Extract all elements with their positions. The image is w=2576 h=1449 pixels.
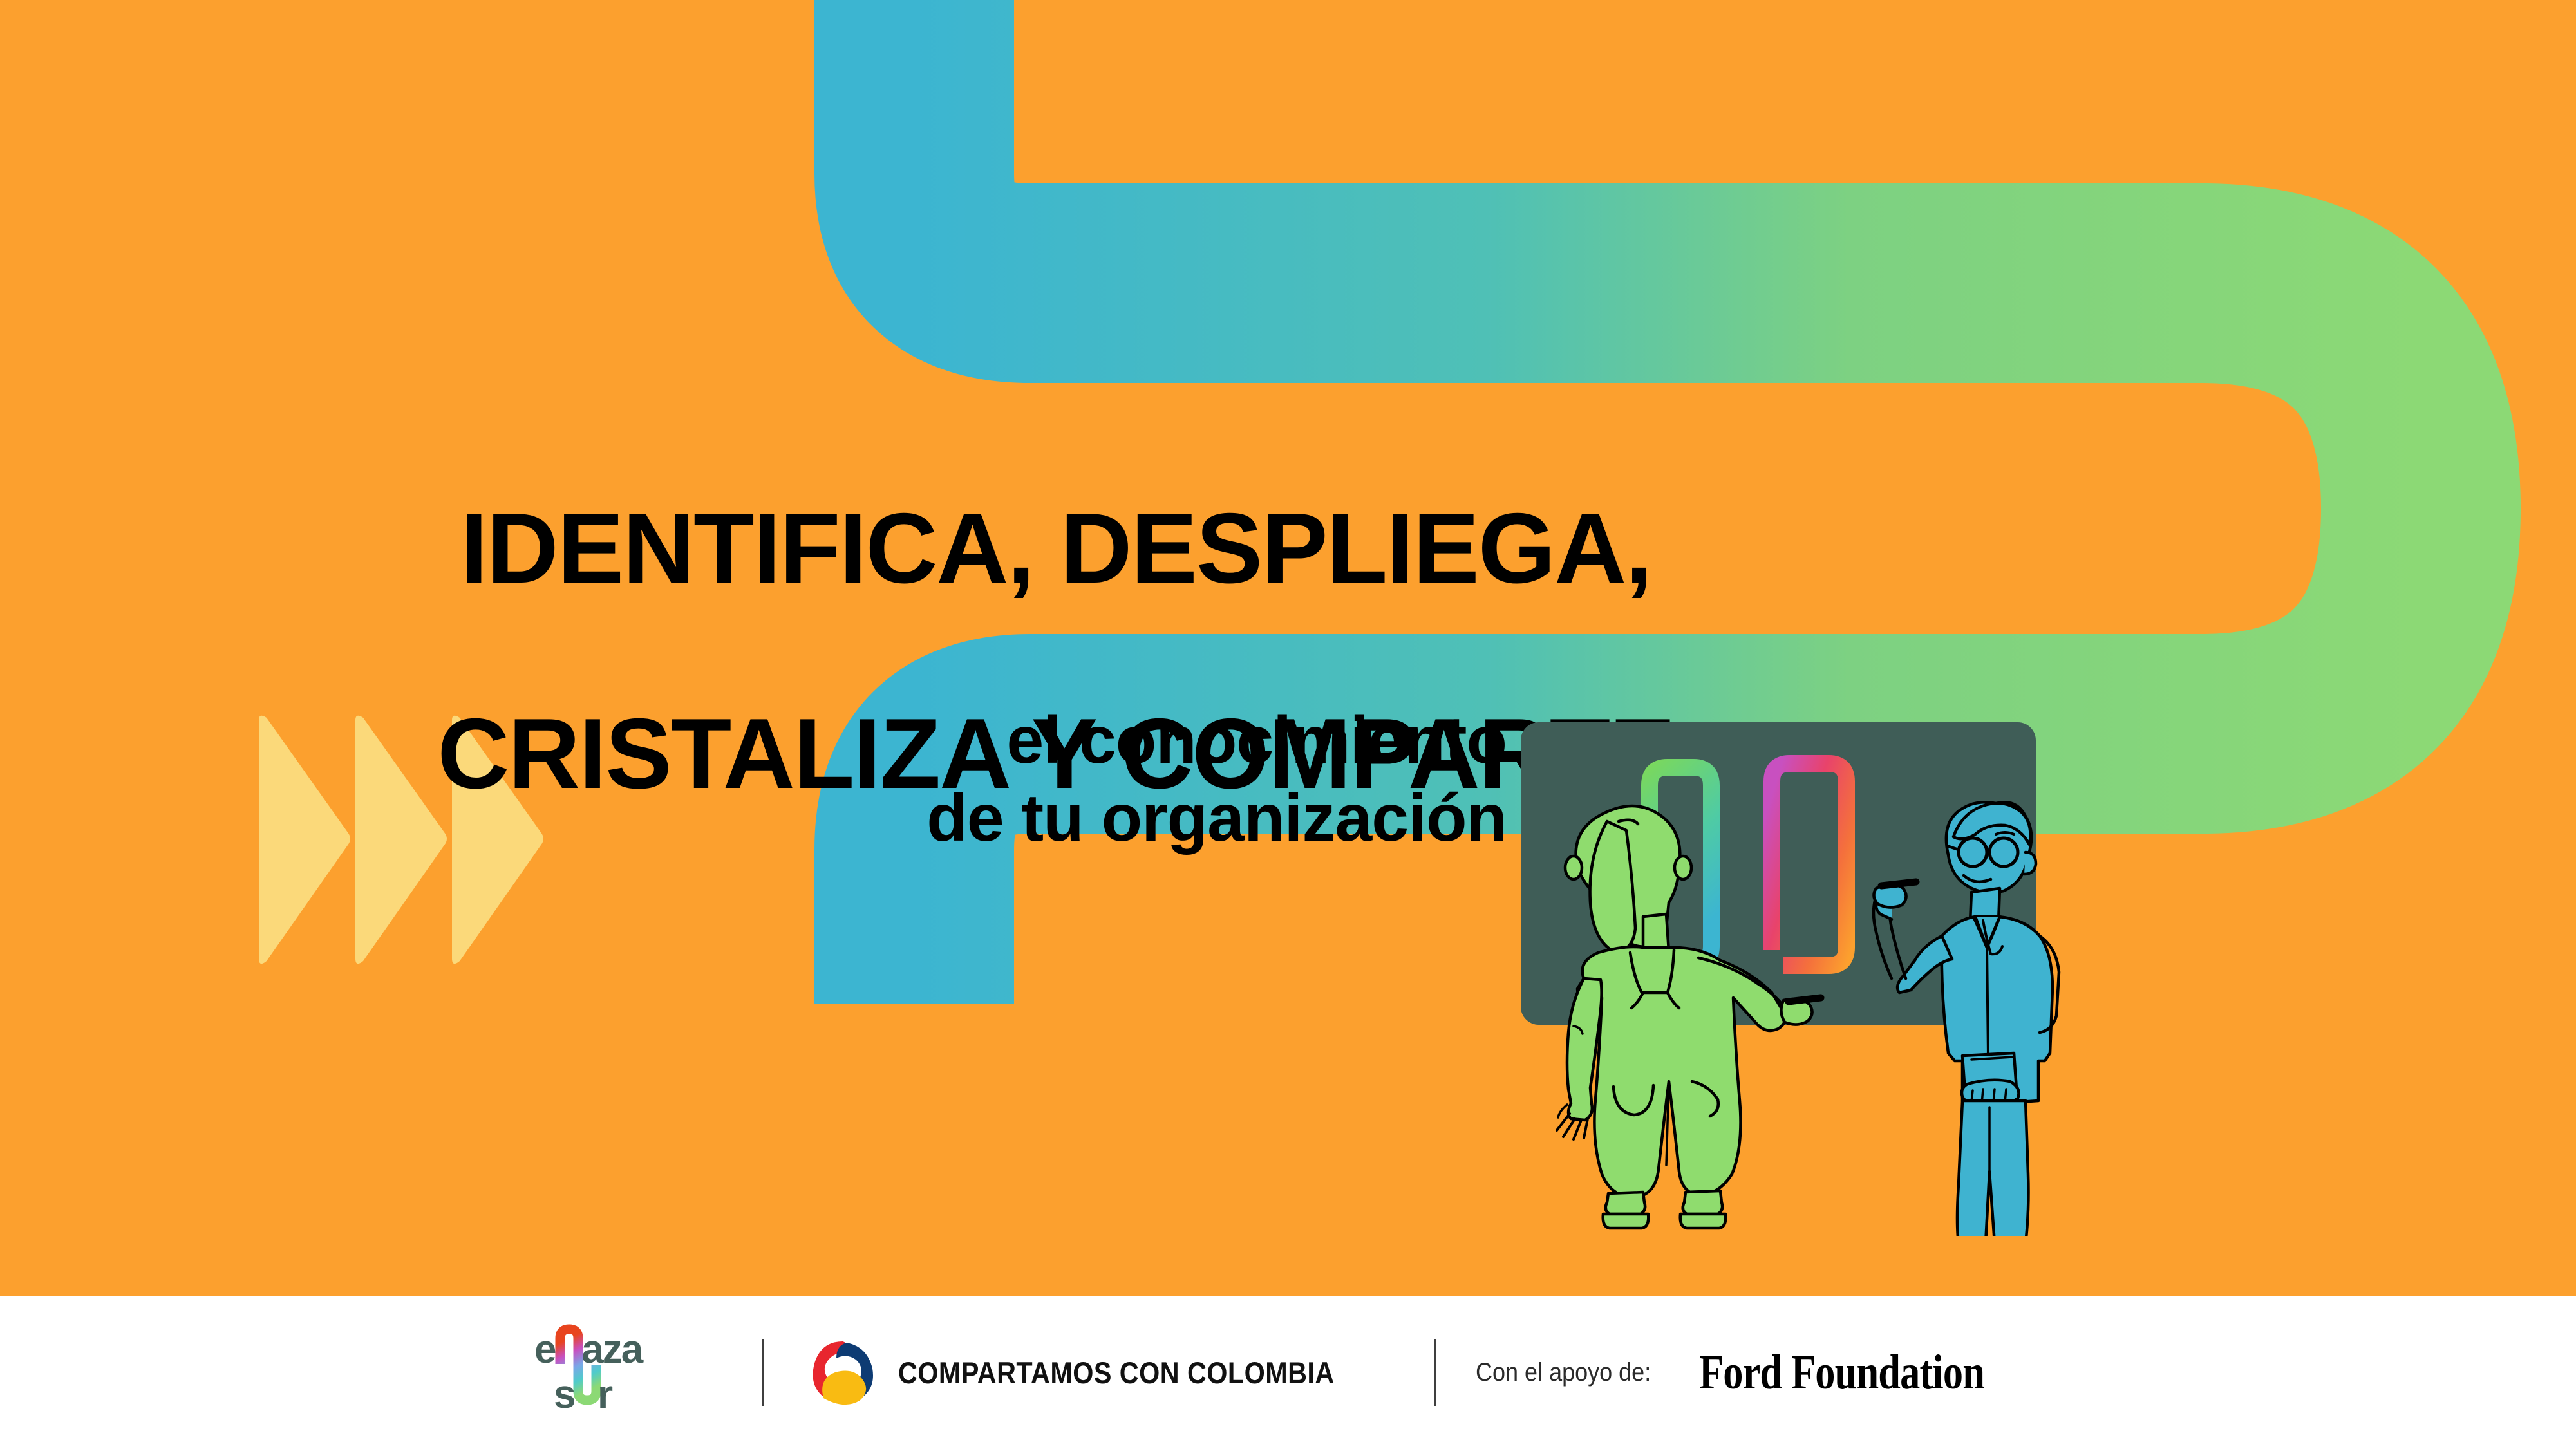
footer-bar: e laza s r COMPARTAMOS CON COLOMBIA Con … bbox=[0, 1296, 2576, 1449]
poster-canvas: IDENTIFICA, DESPLIEGA, CRISTALIZA Y COMP… bbox=[0, 0, 2576, 1449]
support-prefix-label: Con el apoyo de: bbox=[1476, 1358, 1651, 1387]
footer-divider-1 bbox=[762, 1339, 764, 1406]
support-block: Con el apoyo de: Ford Foundation bbox=[1476, 1345, 2047, 1401]
ford-foundation-logo[interactable]: Ford Foundation bbox=[1699, 1345, 1984, 1401]
enlaza-sur-logo-mark: e laza s r bbox=[529, 1324, 722, 1421]
subhead-line-1: el conocimiento bbox=[412, 702, 1507, 780]
partner-name: COMPARTAMOS CON COLOMBIA bbox=[898, 1355, 1335, 1390]
compartamos-con-colombia-logo[interactable]: COMPARTAMOS CON COLOMBIA bbox=[804, 1334, 1394, 1411]
pinwheel-icon bbox=[804, 1334, 881, 1411]
svg-text:r: r bbox=[597, 1372, 613, 1417]
svg-text:e: e bbox=[534, 1327, 556, 1372]
page-subtitle: el conocimiento de tu organización bbox=[412, 702, 1507, 857]
enlaza-sur-logo[interactable]: e laza s r bbox=[529, 1324, 722, 1421]
footer-divider-2 bbox=[1434, 1339, 1436, 1406]
subhead-line-2: de tu organización bbox=[412, 780, 1507, 857]
headline-line-1: IDENTIFICA, DESPLIEGA, bbox=[0, 497, 2112, 600]
two-people-at-whiteboard-illustration bbox=[1481, 695, 2099, 1236]
svg-text:s: s bbox=[554, 1372, 574, 1417]
